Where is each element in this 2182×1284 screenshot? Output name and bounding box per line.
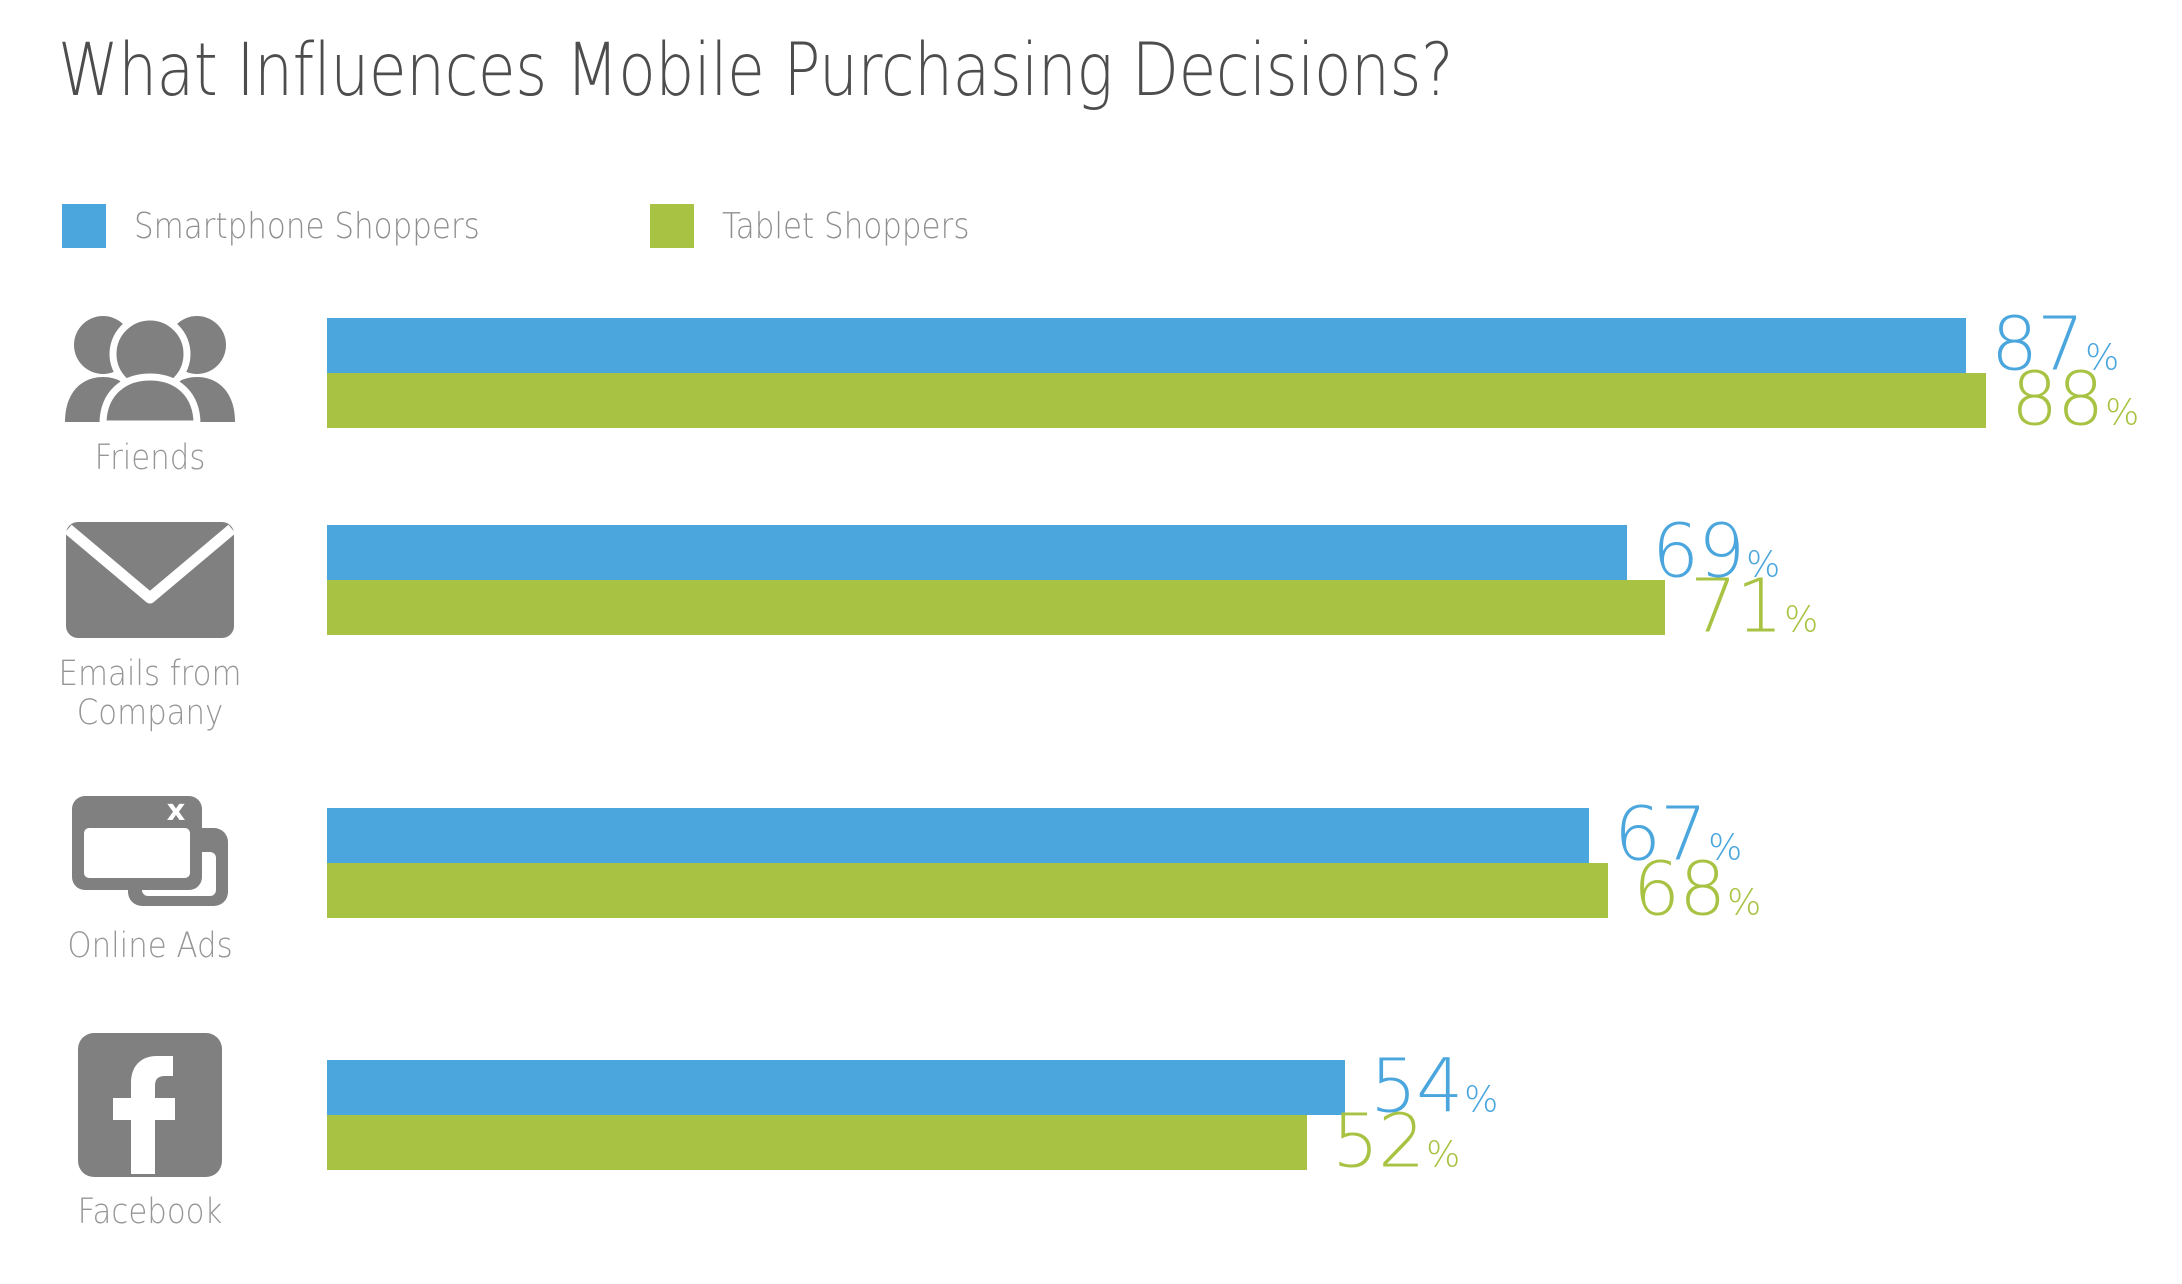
- bar-smartphone: [327, 525, 1627, 580]
- row-label-facebook: Facebook: [18, 1193, 282, 1232]
- bar-smartphone: [327, 318, 1966, 373]
- bar-tablet: [327, 580, 1665, 635]
- row-label-emails: Emails from Company: [18, 655, 282, 733]
- bar-smartphone: [327, 808, 1589, 863]
- bar-smartphone: [327, 1060, 1345, 1115]
- bar-percent-tablet: %: [1727, 882, 1761, 923]
- group-of-people-icon: [0, 314, 300, 429]
- popup-windows-icon: x x: [0, 790, 300, 917]
- row-label-friends: Friends: [18, 439, 282, 478]
- bar-tablet: [327, 1115, 1307, 1170]
- bar-number-tablet: 68: [1633, 846, 1725, 932]
- bar-value-tablet: 88%: [2011, 356, 2139, 442]
- bar-percent-tablet: %: [1426, 1134, 1460, 1175]
- bar-tablet: [327, 373, 1986, 428]
- bar-value-tablet: 71%: [1690, 563, 1818, 649]
- chart-rows: Friends 87% 88%: [0, 0, 2182, 1284]
- row-icon-wrap-online-ads: x x Online Ads: [0, 790, 300, 966]
- bar-percent-tablet: %: [1784, 599, 1818, 640]
- envelope-icon: [0, 520, 300, 645]
- bar-percent-tablet: %: [2105, 392, 2139, 433]
- bar-number-tablet: 71: [1690, 563, 1782, 649]
- row-icon-wrap-friends: Friends: [0, 314, 300, 478]
- row-icon-wrap-facebook: Facebook: [0, 1032, 300, 1232]
- svg-text:x: x: [167, 793, 186, 827]
- infographic-chart: What Influences Mobile Purchasing Decisi…: [0, 0, 2182, 1284]
- bar-value-tablet: 68%: [1633, 846, 1761, 932]
- facebook-icon: [0, 1032, 300, 1183]
- bar-percent-smartphone: %: [1464, 1079, 1498, 1120]
- row-icon-wrap-emails: Emails from Company: [0, 520, 300, 733]
- bar-tablet: [327, 863, 1608, 918]
- bar-number-tablet: 52: [1332, 1098, 1424, 1184]
- bar-number-tablet: 88: [2011, 356, 2103, 442]
- bar-value-tablet: 52%: [1332, 1098, 1460, 1184]
- row-label-online-ads: Online Ads: [18, 927, 282, 966]
